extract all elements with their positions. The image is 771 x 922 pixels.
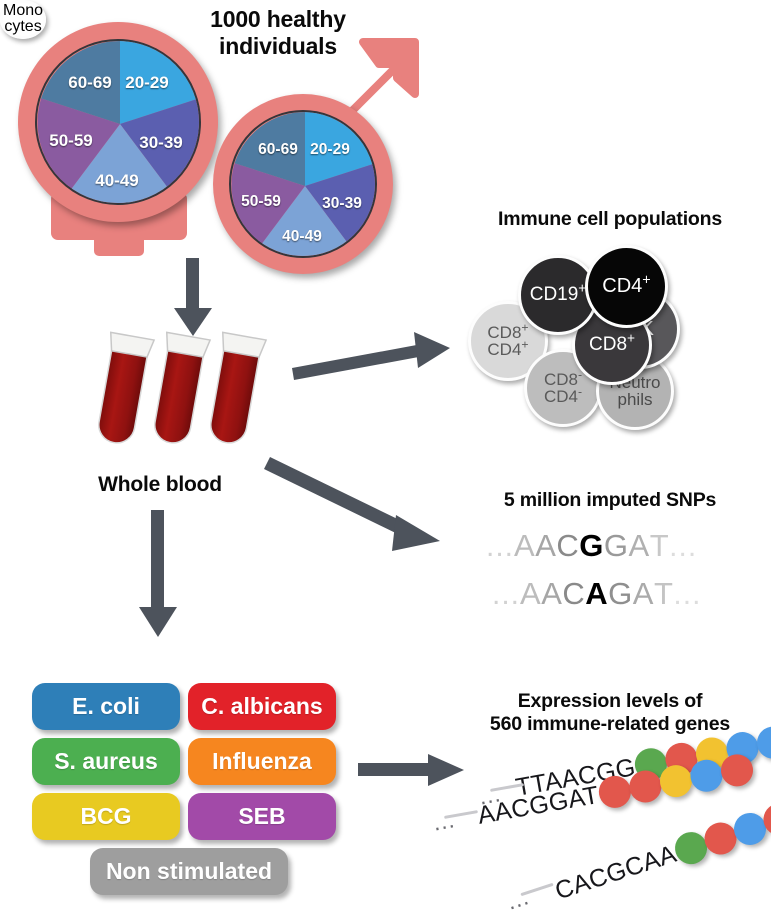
pie-label-20-29: 20-29 (125, 73, 168, 93)
gene-strand-3-lead: … (502, 883, 533, 916)
pie-label-30-39: 30-39 (322, 195, 362, 213)
arrow-blood-to-stimuli (133, 510, 183, 640)
stimulus-non-stimulated[interactable]: Non stimulated (90, 848, 288, 895)
snp-allele-top: G (579, 528, 604, 564)
immune-cell-label: CD8+ (589, 335, 635, 354)
immune-cell-label: CD4+ (602, 276, 650, 296)
blood-tube-body (208, 349, 259, 446)
male-age-pie: 20-29 30-39 40-49 50-59 60-69 (229, 110, 377, 258)
immune-populations-title: Immune cell populations (455, 208, 765, 231)
gene-strand-2-lead: … (430, 806, 458, 837)
stimulus-influenza[interactable]: Influenza (188, 738, 336, 785)
arrow-stimuli-to-expression (358, 752, 468, 792)
female-symbol: 20-29 30-39 40-49 50-59 60-69 (8, 14, 238, 244)
pie-label-20-29: 20-29 (310, 141, 350, 159)
arrow-cohort-to-blood (168, 258, 218, 338)
stimulus-s-aureus[interactable]: S. aureus (32, 738, 180, 785)
stimulus-seb[interactable]: SEB (188, 793, 336, 840)
snp-sequence-row: ... A A C G G A T ... (486, 528, 697, 564)
pie-label-50-59: 50-59 (49, 131, 92, 151)
gene-strand-beads (671, 790, 771, 868)
blood-tube-body (96, 349, 147, 446)
stimulus-bcg[interactable]: BCG (32, 793, 180, 840)
blood-tube-body (152, 349, 203, 446)
gene-bead (657, 763, 694, 800)
stimulus-e-coli[interactable]: E. coli (32, 683, 180, 730)
whole-blood-tubes (100, 330, 285, 475)
pie-label-30-39: 30-39 (139, 133, 182, 153)
gene-bead (755, 724, 771, 761)
gene-bead (687, 757, 724, 794)
immune-cell-monocytes: Monocytes (0, 0, 46, 39)
gene-bead (596, 773, 633, 810)
figure-canvas: 1000 healthy individuals 20-29 30-39 (0, 0, 771, 922)
snps-title: 5 million imputed SNPs (455, 489, 765, 512)
stimulus-c-albicans[interactable]: C. albicans (188, 683, 336, 730)
immune-cell-label: CD8-CD4- (544, 371, 582, 406)
female-age-pie: 20-29 30-39 40-49 50-59 60-69 (35, 39, 201, 205)
snp-sequences: ... A A C G G A T ... ... A A C A G A T … (486, 528, 746, 620)
pie-label-40-49: 40-49 (95, 171, 138, 191)
snp-allele-bottom: A (585, 576, 608, 612)
immune-cell-label: CD8+CD4+ (487, 324, 528, 359)
whole-blood-label: Whole blood (60, 473, 260, 498)
pie-label-60-69: 60-69 (258, 141, 298, 159)
immune-cell-cd4pos: CD4+ (585, 245, 668, 328)
expression-title: Expression levels of 560 immune-related … (450, 690, 770, 736)
snp-sequence-row: ... A A C A G A T ... (492, 576, 701, 612)
pie-label-50-59: 50-59 (241, 193, 281, 211)
male-symbol: 20-29 30-39 40-49 50-59 60-69 (205, 32, 435, 257)
arrow-blood-to-snps (268, 455, 448, 560)
arrow-blood-to-immune (290, 328, 455, 378)
gene-bead (626, 768, 663, 805)
immune-cell-label: Monocytes (3, 3, 43, 36)
pie-label-60-69: 60-69 (68, 73, 111, 93)
immune-cell-label: CD19+ (530, 285, 587, 304)
gene-bead (718, 752, 755, 789)
pie-label-40-49: 40-49 (282, 228, 322, 246)
gene-strand-sequence: CACGCAA (552, 839, 681, 905)
